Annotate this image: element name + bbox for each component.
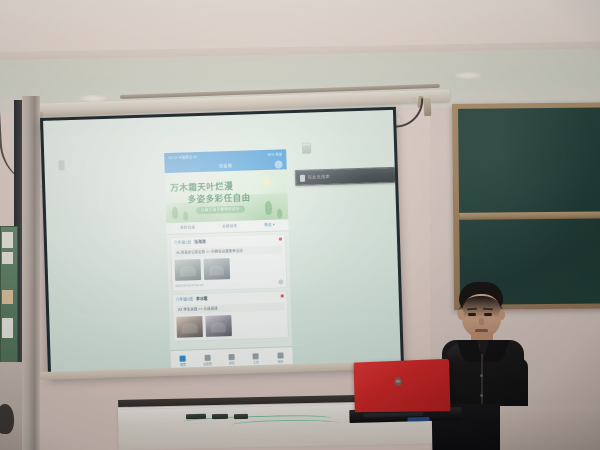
laptop-screen-glow [407, 417, 429, 422]
tab-label: 我的 [278, 359, 284, 363]
status-badge [281, 294, 284, 297]
sun-icon [260, 175, 273, 188]
status-badge [279, 237, 282, 240]
chalkboard-sheen [458, 107, 600, 305]
list-item[interactable]: 六年级3班 李冰霜 A2 学生实践 >> 片段阅读 [173, 291, 288, 340]
eye [468, 313, 476, 316]
card-footer: 2023-09-18 07:51:36 [175, 279, 283, 287]
tab-home[interactable]: 首页 [171, 355, 196, 367]
search-icon [300, 174, 305, 181]
roller-bracket [424, 98, 432, 116]
thumbnail-image[interactable] [176, 316, 203, 338]
projection-screen: 在此处搜索 15:23 中国移动 4G 98% 电量 班级圈 [40, 107, 404, 378]
notice-paper [2, 232, 13, 248]
red-laptop[interactable] [352, 359, 457, 420]
card-body-text: A2 学生实践 >> 片段阅读 [176, 302, 284, 313]
card-thumbnails [175, 256, 284, 280]
thumbnail-image[interactable] [175, 259, 202, 281]
tree-icon [183, 211, 188, 220]
chalkboard [452, 102, 600, 310]
thumbnail-image[interactable] [203, 258, 230, 280]
ceiling-light-icon [455, 72, 481, 79]
cable-connector [234, 414, 248, 419]
filter-sort[interactable]: 筛选 ▾ [264, 223, 275, 228]
briefcase-icon [253, 353, 259, 359]
tab-label: 通知 [229, 361, 235, 365]
banner-headline-2: 多姿多彩任自由 [187, 191, 250, 205]
projected-app: 15:23 中国移动 4G 98% 电量 班级圈 万木霜天叶烂漫 [164, 149, 293, 371]
nose [479, 318, 484, 325]
tab-label: 首页 [180, 362, 186, 366]
tab-label: 工作 [253, 360, 259, 364]
tab-label: 班级圈 [203, 361, 212, 365]
tree-icon [172, 207, 178, 219]
group-icon [204, 354, 210, 360]
wall-lower-right [500, 406, 600, 450]
file-icon[interactable] [302, 143, 311, 154]
foreground-object [0, 404, 14, 434]
card-header: 六年级2班 张海涛 [174, 237, 282, 245]
timestamp: 2023-09-18 07:51:36 [175, 282, 203, 287]
shirt-button [480, 374, 483, 377]
search-value: 在此处搜索 [308, 174, 330, 181]
shirt-button [480, 394, 483, 397]
tab-mine[interactable]: 我的 [268, 352, 293, 364]
filter-all-posts[interactable]: 全部动态 [222, 224, 237, 229]
cable-connector [212, 414, 228, 419]
alien-head-logo-icon [394, 377, 401, 386]
person-icon [277, 352, 283, 358]
tab-class-circle[interactable]: 班级圈 [195, 354, 220, 366]
notice-paper [2, 290, 13, 304]
list-item[interactable]: 六年级2班 张海涛 AL用语言记录实践 >> 科教探创建素养活动 2023-09… [171, 234, 287, 291]
tab-work[interactable]: 工作 [244, 352, 269, 364]
ear [458, 309, 464, 320]
status-carrier: 15:23 中国移动 4G [168, 154, 198, 160]
app-banner: 万木霜天叶烂漫 多姿多彩任自由 让每个孩子都精彩成长 [165, 169, 289, 223]
chalkboard-surface [458, 107, 600, 305]
card-author: 李冰霜 [196, 297, 208, 302]
projection-screen-surface: 在此处搜索 15:23 中国移动 4G 98% 电量 班级圈 [43, 110, 401, 373]
card-class: 六年级3班 [176, 297, 193, 303]
bell-icon [228, 354, 234, 360]
tab-notice[interactable]: 通知 [219, 353, 244, 365]
ear [499, 309, 505, 320]
filter-my-class[interactable]: 我的班级 [180, 225, 195, 230]
screen-side-tab [58, 160, 64, 170]
status-battery: 98% 电量 [267, 151, 282, 156]
avatar[interactable] [274, 160, 282, 168]
notice-paper [2, 318, 13, 338]
card-thumbnails [176, 313, 285, 337]
search-input[interactable]: 在此处搜索 [295, 166, 401, 186]
page-title: 班级圈 [219, 162, 232, 168]
more-options-icon[interactable] [278, 279, 283, 284]
app-feed-list: 六年级2班 张海涛 AL用语言记录实践 >> 科教探创建素养活动 2023-09… [167, 231, 292, 347]
classroom-photo: 在此处搜索 15:23 中国移动 4G 98% 电量 班级圈 [0, 0, 600, 450]
tree-icon [277, 208, 282, 218]
card-class: 六年级2班 [174, 240, 191, 246]
notice-paper [2, 252, 13, 264]
cable-connector [186, 414, 206, 420]
laptop-lid [354, 359, 451, 413]
card-body-text: AL用语言记录实践 >> 科教探创建素养活动 [174, 245, 282, 256]
tree-icon [265, 201, 272, 215]
card-header: 六年级3班 李冰霜 [176, 294, 284, 302]
wall-pillar [22, 96, 40, 450]
thumbnail-image[interactable] [205, 315, 232, 337]
card-author: 张海涛 [194, 240, 206, 245]
eye [484, 313, 492, 316]
chalkboard-rail [459, 211, 600, 220]
home-icon [180, 355, 186, 361]
